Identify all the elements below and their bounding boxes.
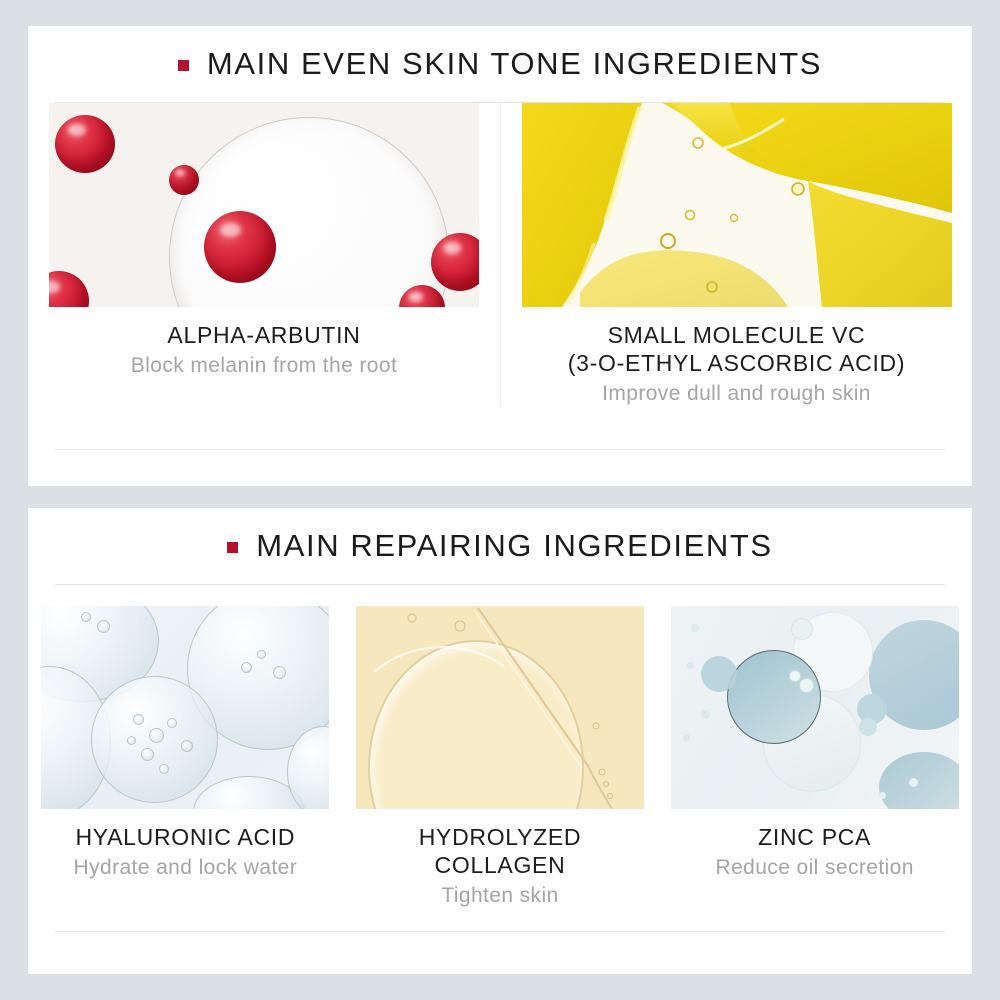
ingredient-description: Hydrate and lock water xyxy=(74,851,298,881)
yellow-oil-artwork xyxy=(522,103,952,307)
small-molecule-vc-caption: SMALL MOLECULE VC (3-O-ETHYL ASCORBIC AC… xyxy=(568,307,905,407)
square-bullet-icon xyxy=(178,60,189,71)
hyaluronic-acid-caption: HYALURONIC ACID Hydrate and lock water xyxy=(74,809,298,881)
alpha-arbutin-image xyxy=(49,103,479,307)
hydrolyzed-collagen-image xyxy=(356,606,644,809)
ingredient-name: SMALL MOLECULE VC (3-O-ETHYL ASCORBIC AC… xyxy=(568,321,905,377)
card-row-repairing: HYALURONIC ACID Hydrate and lock water xyxy=(28,585,972,909)
ingredient-name: ZINC PCA xyxy=(716,823,914,851)
section-bottom-divider xyxy=(55,931,945,932)
collagen-gel-lines xyxy=(356,606,644,809)
small-molecule-vc-image xyxy=(522,103,952,307)
section-even-skin-tone: MAIN EVEN SKIN TONE INGREDIENTS xyxy=(28,26,972,486)
ingredient-card-hydrolyzed-collagen[interactable]: HYDROLYZED COLLAGEN Tighten skin xyxy=(343,606,658,909)
square-bullet-icon xyxy=(227,542,238,553)
section-bottom-divider xyxy=(55,449,945,450)
ingredient-name: HYDROLYZED COLLAGEN xyxy=(419,823,582,879)
ingredient-card-hyaluronic-acid[interactable]: HYALURONIC ACID Hydrate and lock water xyxy=(28,606,343,909)
ingredient-description: Block melanin from the root xyxy=(131,349,397,379)
ingredient-name: HYALURONIC ACID xyxy=(74,823,298,851)
ingredient-description: Improve dull and rough skin xyxy=(568,377,905,407)
alpha-arbutin-caption: ALPHA-ARBUTIN Block melanin from the roo… xyxy=(131,307,397,379)
hydrolyzed-collagen-caption: HYDROLYZED COLLAGEN Tighten skin xyxy=(419,809,582,909)
card-vertical-divider xyxy=(500,103,501,407)
infographic-page: MAIN EVEN SKIN TONE INGREDIENTS xyxy=(0,0,1000,1000)
zinc-pca-image xyxy=(671,606,959,809)
section-repairing: MAIN REPAIRING INGREDIENTS xyxy=(28,508,972,974)
section-heading-even-skin-tone: MAIN EVEN SKIN TONE INGREDIENTS xyxy=(28,26,972,102)
ingredient-name: ALPHA-ARBUTIN xyxy=(131,321,397,349)
zinc-pca-caption: ZINC PCA Reduce oil secretion xyxy=(716,809,914,881)
hyaluronic-acid-image xyxy=(41,606,329,809)
ingredient-card-zinc-pca[interactable]: ZINC PCA Reduce oil secretion xyxy=(657,606,972,909)
ingredient-card-alpha-arbutin[interactable]: ALPHA-ARBUTIN Block melanin from the roo… xyxy=(28,103,500,407)
section-title: MAIN EVEN SKIN TONE INGREDIENTS xyxy=(207,46,822,82)
card-row-even-skin-tone: ALPHA-ARBUTIN Block melanin from the roo… xyxy=(28,103,972,407)
section-heading-repairing: MAIN REPAIRING INGREDIENTS xyxy=(28,508,972,584)
ingredient-card-small-molecule-vc[interactable]: SMALL MOLECULE VC (3-O-ETHYL ASCORBIC AC… xyxy=(500,103,972,407)
ingredient-description: Reduce oil secretion xyxy=(716,851,914,881)
section-title: MAIN REPAIRING INGREDIENTS xyxy=(256,528,772,564)
ingredient-description: Tighten skin xyxy=(419,879,582,909)
